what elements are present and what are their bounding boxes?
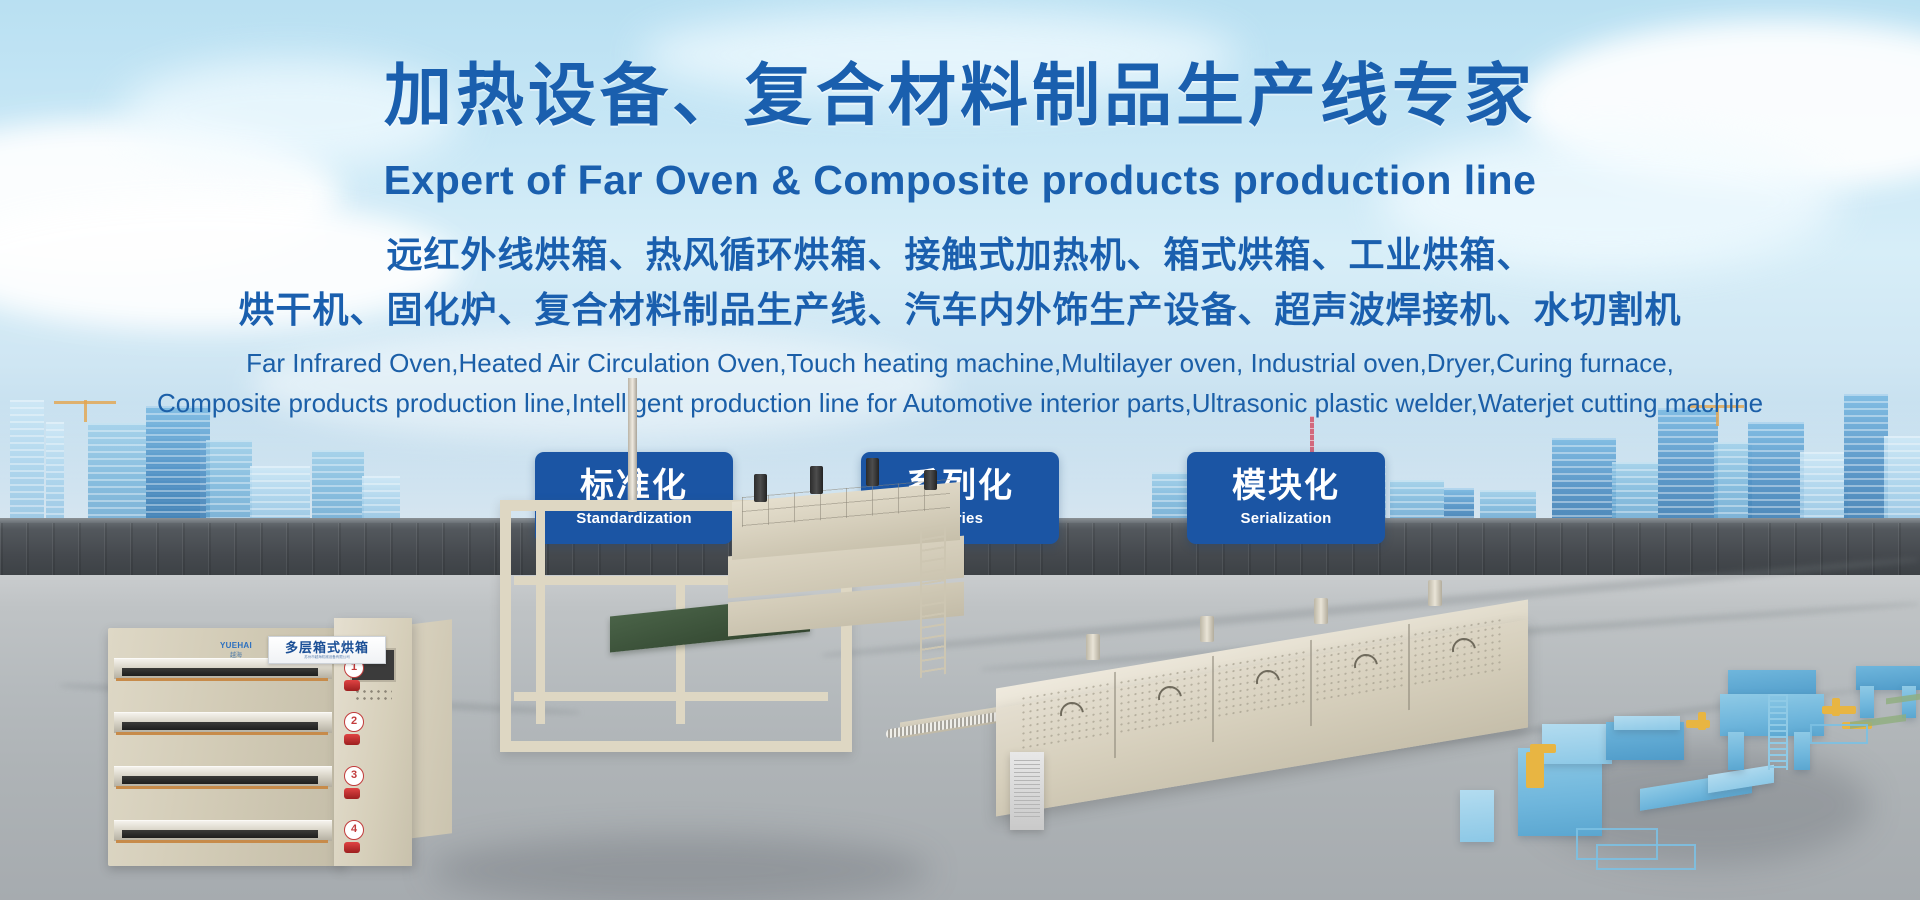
badge-title-en: Serialization: [1241, 510, 1332, 527]
feature-badge-group: 标准化 Standardization 系列化 Series 模块化 Seria…: [0, 452, 1920, 544]
press-column: [628, 378, 637, 512]
nameplate-title: 多层箱式烘箱: [285, 641, 369, 654]
press-vent-stack: [754, 474, 767, 502]
tunnel-exhaust-stack: [1200, 616, 1214, 642]
tier-knob-3[interactable]: [344, 788, 360, 799]
tier-knob-4[interactable]: [344, 842, 360, 853]
tunnel-exhaust-stack: [1314, 598, 1328, 624]
tunnel-exhaust-stack: [1428, 580, 1442, 606]
oven-vent-dots: [354, 688, 392, 702]
tier-knob-1[interactable]: [344, 680, 360, 691]
product-list-en-line-2: Composite products production line,Intel…: [0, 390, 1920, 416]
tier-number-2: 2: [344, 712, 364, 732]
tunnel-control-cabinet: [1010, 752, 1044, 830]
page-title: 加热设备、复合材料制品生产线专家: [0, 62, 1920, 130]
badge-serialization[interactable]: 模块化 Serialization: [1187, 452, 1385, 544]
tier-number-3: 3: [344, 766, 364, 786]
tunnel-exhaust-stack: [1086, 634, 1100, 660]
nameplate-subtitle: 苏州市越海机械设备有限公司: [304, 656, 350, 660]
product-list-cn-line-2: 烘干机、固化炉、复合材料制品生产线、汽车内外饰生产设备、超声波焊接机、水切割机: [0, 292, 1920, 328]
machine-brand-logo: YUEHAI 越海: [212, 640, 260, 660]
tier-knob-2[interactable]: [344, 734, 360, 745]
brand-sub: YUEHAI: [220, 641, 252, 650]
automotive-interior-production-line: [1450, 660, 1920, 900]
tier-number-4: 4: [344, 820, 364, 840]
product-list-cn-line-1: 远红外线烘箱、热风循环烘箱、接触式加热机、箱式烘箱、工业烘箱、: [0, 237, 1920, 273]
press-vent-stack: [810, 466, 823, 494]
badge-title-cn: 模块化: [1232, 469, 1340, 505]
machine-nameplate: 多层箱式烘箱 苏州市越海机械设备有限公司: [268, 636, 386, 664]
multilayer-box-oven: 1 2 3 4: [108, 628, 438, 876]
press-vent-stack: [866, 458, 879, 486]
product-list-en-line-1: Far Infrared Oven,Heated Air Circulation…: [0, 350, 1920, 376]
page-subtitle: Expert of Far Oven & Composite products …: [0, 160, 1920, 201]
contact-heating-press: [500, 480, 920, 880]
marketing-banner: 加热设备、复合材料制品生产线专家 Expert of Far Oven & Co…: [0, 0, 1920, 900]
brand-mark: 越海: [230, 650, 242, 659]
press-vent-stack: [924, 470, 937, 490]
